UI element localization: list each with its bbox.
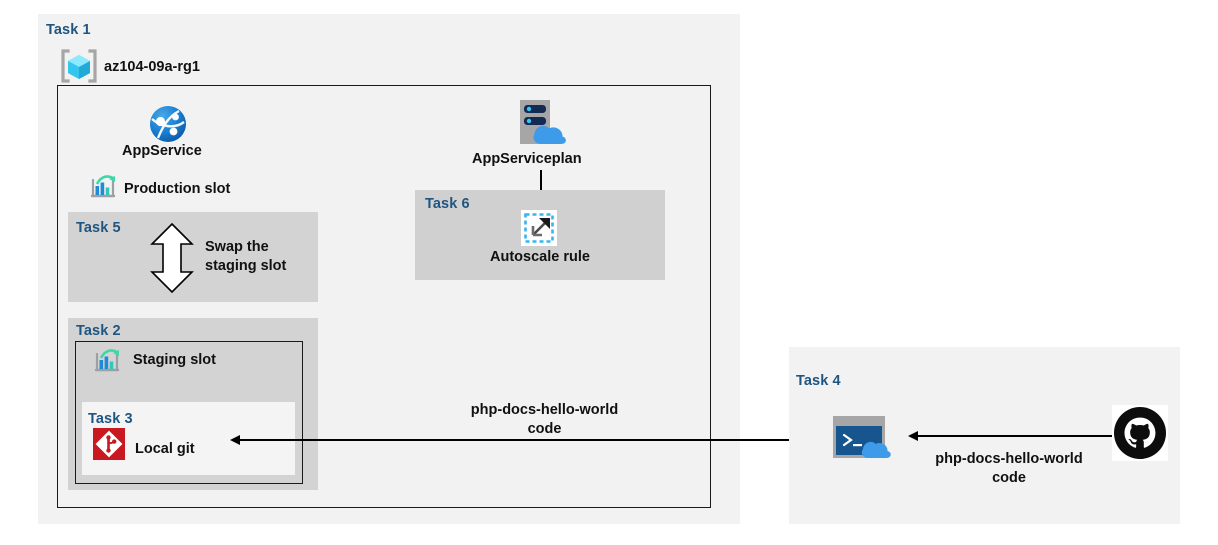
- center-code-line1: php-docs-hello-world: [471, 402, 618, 418]
- resource-group-label: az104-09a-rg1: [104, 58, 200, 77]
- app-service-label: AppService: [122, 142, 202, 161]
- task4-code-label: php-docs-hello-world code: [925, 450, 1093, 487]
- github-to-cloudshell-arrow-head: [908, 431, 918, 441]
- task4-label: Task 4: [796, 373, 841, 389]
- autoscale-rule-label: Autoscale rule: [490, 248, 590, 267]
- cloudshell-to-localgit-arrow-head: [230, 435, 240, 445]
- git-icon: [93, 428, 125, 460]
- swap-double-arrow-icon: [147, 222, 197, 294]
- center-code-label: php-docs-hello-world code: [452, 401, 637, 438]
- app-service-plan-label: AppServiceplan: [472, 150, 582, 169]
- task1-label: Task 1: [46, 22, 91, 38]
- task6-label: Task 6: [425, 196, 470, 212]
- task3-label: Task 3: [88, 411, 133, 427]
- task5-action-line2: staging slot: [205, 258, 286, 274]
- task4-code-line1: php-docs-hello-world: [935, 451, 1082, 467]
- staging-slot-icon: [92, 348, 122, 376]
- center-code-line2: code: [528, 421, 562, 437]
- local-git-label: Local git: [135, 440, 195, 459]
- github-icon: [1112, 405, 1168, 461]
- task5-action-label: Swap the staging slot: [205, 238, 320, 275]
- cloud-shell-icon: [831, 414, 901, 460]
- diagram-canvas: Task 1 az104-09a-rg1: [0, 0, 1218, 545]
- task5-action-line1: Swap the: [205, 239, 269, 255]
- resource-group-icon: [60, 48, 98, 84]
- staging-slot-label: Staging slot: [133, 351, 216, 370]
- task4-code-line2: code: [992, 470, 1026, 486]
- production-slot-label: Production slot: [124, 180, 230, 199]
- task5-label: Task 5: [76, 220, 121, 236]
- github-to-cloudshell-arrow-line: [918, 435, 1112, 437]
- app-service-icon: [149, 105, 187, 143]
- production-slot-icon: [88, 174, 118, 202]
- app-service-plan-icon: [510, 98, 572, 148]
- autoscale-rule-icon: [521, 210, 557, 246]
- task2-label: Task 2: [76, 323, 121, 339]
